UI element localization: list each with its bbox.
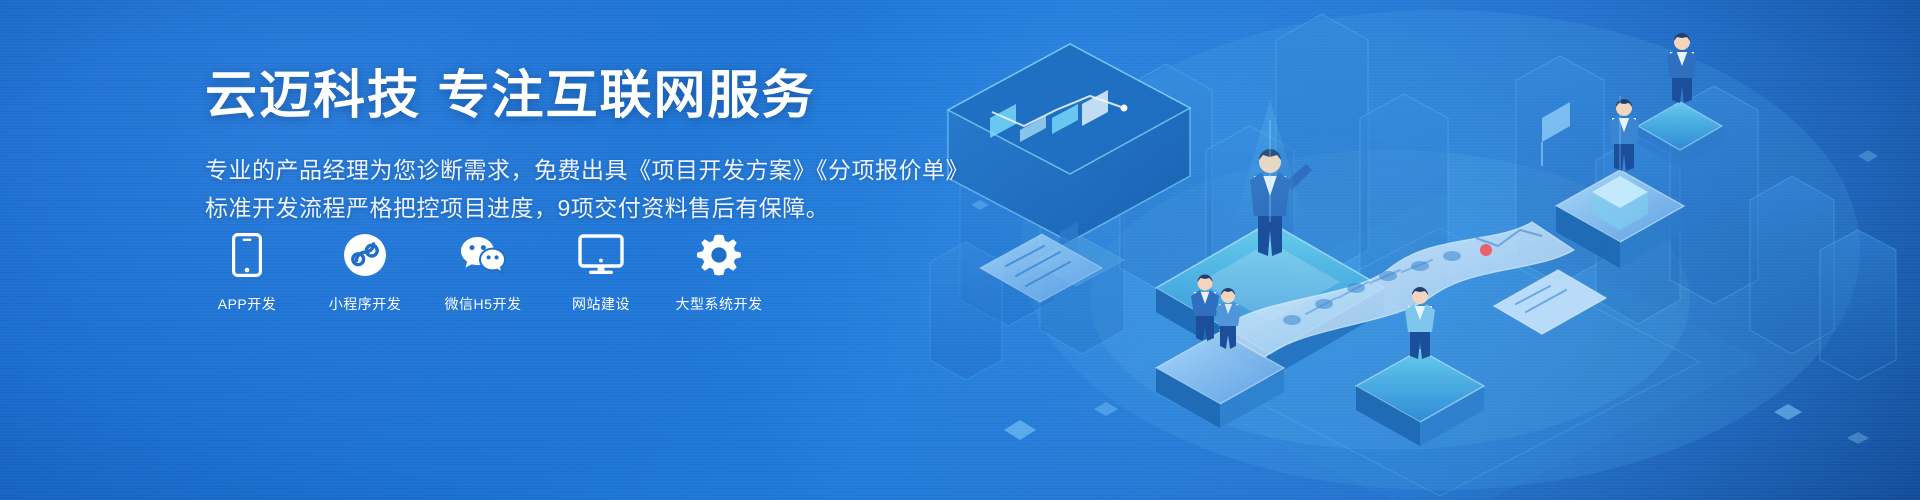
service-label-large-system: 大型系统开发	[676, 294, 763, 314]
banner-copy: 云迈科技 专注互联网服务 专业的产品经理为您诊断需求，免费出具《项目开发方案》《…	[205, 66, 965, 228]
monitor-icon	[578, 232, 624, 278]
service-label-wechat: 微信H5开发	[445, 294, 522, 314]
smartphone-icon	[232, 232, 262, 278]
isometric-tech-illustration	[920, 0, 1920, 500]
service-item-wechat[interactable]: 微信H5开发	[442, 232, 524, 314]
wechat-icon	[459, 232, 507, 278]
service-label-app: APP开发	[218, 294, 277, 314]
service-item-app[interactable]: APP开发	[206, 232, 288, 314]
gear-icon	[697, 232, 741, 278]
subtitle-line-2: 标准开发流程严格把控项目进度，9项交付资料售后有保障。	[205, 190, 965, 228]
service-item-large-system[interactable]: 大型系统开发	[678, 232, 760, 314]
service-list: APP开发 小程序开发	[206, 232, 760, 314]
service-item-mini-program[interactable]: 小程序开发	[324, 232, 406, 314]
promo-banner: 云迈科技 专注互联网服务 专业的产品经理为您诊断需求，免费出具《项目开发方案》《…	[0, 0, 1920, 500]
subtitle-line-1: 专业的产品经理为您诊断需求，免费出具《项目开发方案》《分项报价单》	[205, 152, 965, 190]
mini-program-icon	[343, 232, 387, 278]
service-item-website[interactable]: 网站建设	[560, 232, 642, 314]
service-label-website: 网站建设	[572, 294, 630, 314]
page-title: 云迈科技 专注互联网服务	[205, 66, 965, 126]
banner-subtitle: 专业的产品经理为您诊断需求，免费出具《项目开发方案》《分项报价单》 标准开发流程…	[205, 152, 965, 228]
service-label-mini-program: 小程序开发	[329, 294, 402, 314]
